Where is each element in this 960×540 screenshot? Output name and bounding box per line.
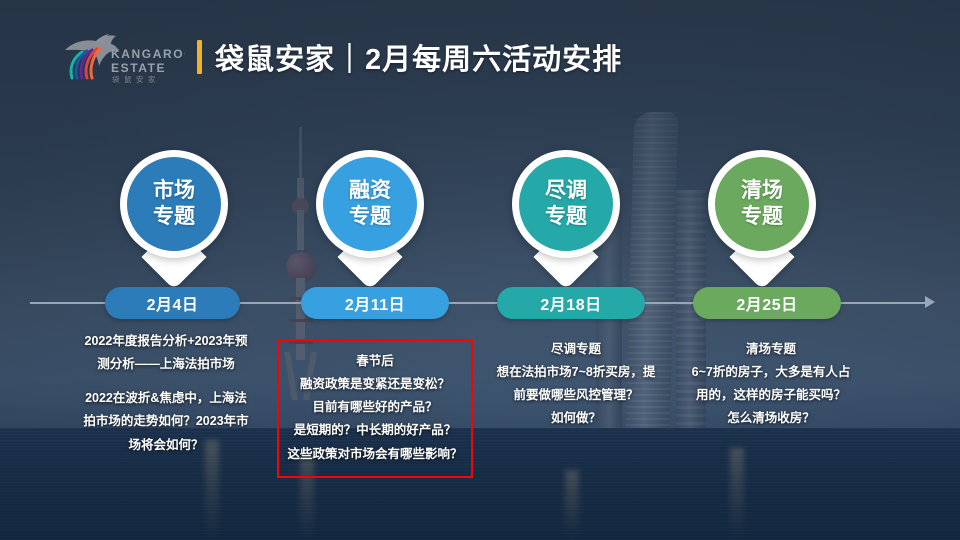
timeline-pin[interactable]: 清场专题: [708, 150, 816, 276]
description-line: 尽调专题: [468, 338, 684, 361]
description-line: 前要做哪些风控管理？: [468, 384, 684, 407]
timeline-description: 尽调专题想在法拍市场7~8折买房，提前要做哪些风控管理？如何做？: [468, 338, 684, 431]
pin-label-line1: 清场: [741, 178, 783, 204]
description-line: 测分析——上海法拍市场: [46, 353, 286, 376]
logo-text-en-line1: KANGAROO: [111, 47, 185, 61]
timeline-date-pill[interactable]: 2月18日: [497, 287, 645, 319]
pin-label-line2: 专题: [153, 204, 195, 230]
description-line: 融资政策是变紧还是变松？: [287, 373, 463, 396]
pin-label-line1: 融资: [349, 178, 391, 204]
pin-label-line1: 尽调: [545, 178, 587, 204]
logo-text-cn: 袋 鼠 安 家: [112, 74, 157, 84]
description-line: 是短期的？中长期的好产品？: [287, 419, 463, 442]
description-line: 想在法拍市场7~8折买房，提: [468, 361, 684, 384]
page-header: KANGAROO ESTATE 袋 鼠 安 家 袋鼠安家｜2月每周六活动安排: [0, 0, 960, 110]
description-line: 2022年度报告分析+2023年预: [46, 330, 286, 353]
description-line: 春节后: [287, 350, 463, 373]
timeline-description: 清场专题6~7折的房子，大多是有人占用的，这样的房子能买吗？怎么清场收房？: [662, 338, 880, 431]
description-line: 怎么清场收房？: [662, 407, 880, 430]
description-line: 如何做？: [468, 407, 684, 430]
description-line: 场将会如何？: [46, 434, 286, 457]
logo-text-en-line2: ESTATE: [111, 61, 166, 75]
description-line: 2022在波折&焦虑中，上海法: [46, 387, 286, 410]
timeline-date-pill[interactable]: 2月4日: [105, 287, 240, 319]
description-line: 目前有哪些好的产品？: [287, 396, 463, 419]
pin-label-line1: 市场: [153, 178, 195, 204]
timeline-arrow-icon: [925, 296, 935, 308]
timeline-date-pill[interactable]: 2月25日: [693, 287, 841, 319]
description-line: 6~7折的房子，大多是有人占: [662, 361, 880, 384]
timeline-description: 2022年度报告分析+2023年预测分析——上海法拍市场2022在波折&焦虑中，…: [46, 330, 286, 457]
description-line: 拍市场的走势如何？2023年市: [46, 410, 286, 433]
timeline-pin[interactable]: 尽调专题: [512, 150, 620, 276]
title-accent-bar: [197, 40, 202, 74]
timeline-description: 春节后融资政策是变紧还是变松？目前有哪些好的产品？是短期的？中长期的好产品？这些…: [277, 339, 473, 478]
kangaroo-estate-logo: KANGAROO ESTATE 袋 鼠 安 家: [55, 28, 185, 84]
description-line: 用的，这样的房子能买吗？: [662, 384, 880, 407]
pin-label-line2: 专题: [741, 204, 783, 230]
pin-label-line2: 专题: [349, 204, 391, 230]
timeline-pin[interactable]: 融资专题: [316, 150, 424, 276]
timeline-date-pill[interactable]: 2月11日: [301, 287, 449, 319]
timeline-pin[interactable]: 市场专题: [120, 150, 228, 276]
description-line: 清场专题: [662, 338, 880, 361]
title-text: 袋鼠安家｜2月每周六活动安排: [215, 36, 622, 78]
pin-label-line2: 专题: [545, 204, 587, 230]
description-line: 这些政策对市场会有哪些影响？: [287, 443, 463, 466]
page-title: 袋鼠安家｜2月每周六活动安排: [197, 36, 622, 78]
